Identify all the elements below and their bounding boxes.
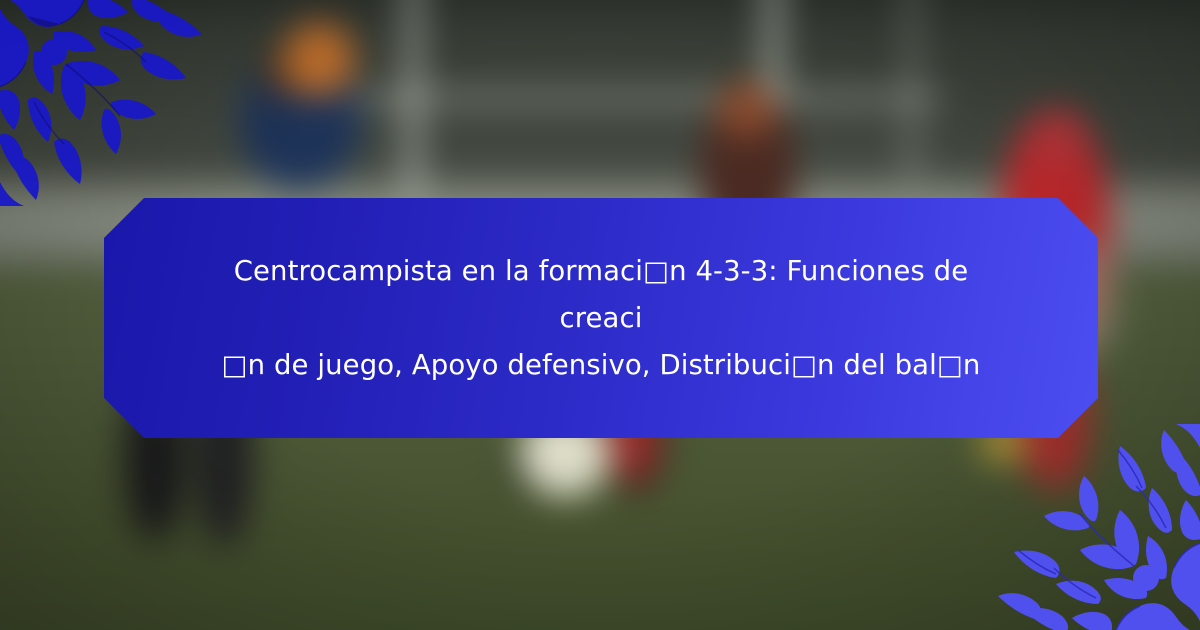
headline-text: Centrocampista en la formaci□n 4-3-3: Fu… [139, 248, 1063, 389]
share-card: Centrocampista en la formaci□n 4-3-3: Fu… [0, 0, 1200, 630]
headline-banner: Centrocampista en la formaci□n 4-3-3: Fu… [104, 198, 1098, 438]
